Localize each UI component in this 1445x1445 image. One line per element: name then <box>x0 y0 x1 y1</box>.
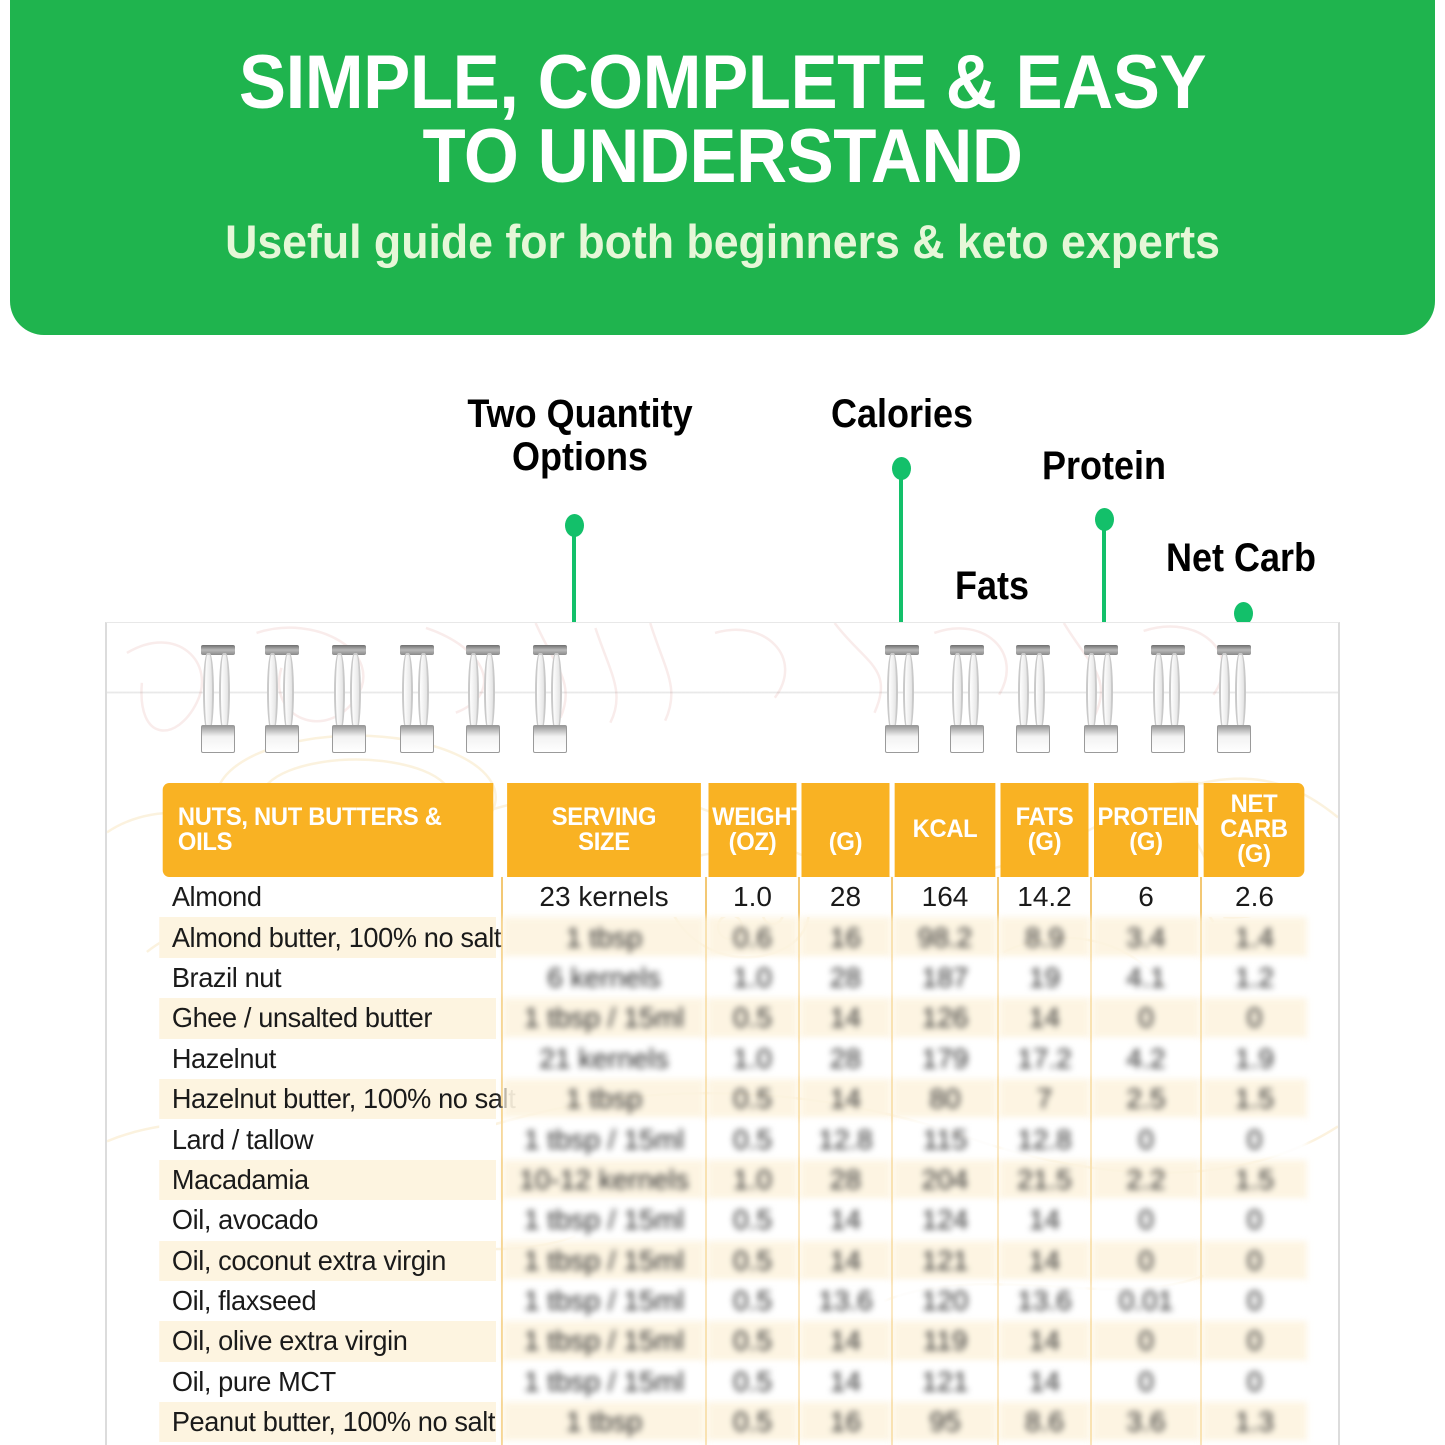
table-row[interactable]: Oil, olive extra virgin1 tbsp / 15ml0.51… <box>154 1321 1307 1361</box>
cell-weight-g: 28 <box>799 1160 892 1200</box>
callout-label-net-carb: Net Carb <box>1123 537 1359 580</box>
cell-fats: 8.6 <box>998 1402 1091 1442</box>
cell-weight-oz: 1.0 <box>706 1160 799 1200</box>
cell-weight-g: 28 <box>799 958 892 998</box>
column-header-protein[interactable]: PROTEIN (G) <box>1094 783 1199 877</box>
column-header-weight-oz[interactable]: WEIGHT (OZ) <box>708 783 796 877</box>
cell-weight-g: 13.6 <box>799 1281 892 1321</box>
hero-banner: SIMPLE, COMPLETE & EASY TO UNDERSTAND Us… <box>10 0 1435 335</box>
cell-weight-oz: 1.0 <box>706 958 799 998</box>
nutrition-table-container: NUTS, NUT BUTTERS & OILS SERVING SIZE WE… <box>154 783 1307 1445</box>
page-root: SIMPLE, COMPLETE & EASY TO UNDERSTAND Us… <box>0 0 1445 1445</box>
cell-weight-oz: 0.5 <box>706 1241 799 1281</box>
column-header-serving-main: SERVING <box>511 805 697 830</box>
cell-fats: 7 <box>998 1079 1091 1119</box>
cell-fats: 14 <box>998 1321 1091 1361</box>
cell-kcal: 121 <box>892 1362 998 1402</box>
column-header-fats-main: FATS <box>1004 805 1085 830</box>
table-header: NUTS, NUT BUTTERS & OILS SERVING SIZE WE… <box>154 783 1307 877</box>
cell-kcal: 187 <box>892 958 998 998</box>
cell-kcal: 115 <box>892 1119 998 1159</box>
cell-net-carb: 0 <box>1201 998 1307 1038</box>
column-header-kcal-text: KCAL <box>898 817 991 842</box>
cell-serving-size: 21 kernels <box>502 1039 706 1079</box>
cell-protein: 0.01 <box>1091 1281 1201 1321</box>
cell-net-carb: 1.4 <box>1201 917 1307 957</box>
cell-net-carb: 1.5 <box>1201 1160 1307 1200</box>
cell-fats: 14 <box>998 1200 1091 1240</box>
cell-food-name: Peanut butter, 100% no salt <box>159 1402 497 1442</box>
cell-protein: 0 <box>1091 1241 1201 1281</box>
column-header-fats[interactable]: FATS (G) <box>1000 783 1088 877</box>
cell-kcal: 95 <box>892 1402 998 1442</box>
cell-weight-g: 28 <box>799 877 892 917</box>
hero-title-line1: SIMPLE, COMPLETE & EASY <box>60 46 1385 120</box>
cell-weight-oz: 1.0 <box>706 1039 799 1079</box>
spiral-ring <box>1217 645 1251 753</box>
column-header-weight-g-main <box>805 805 886 830</box>
cell-protein: 3.6 <box>1091 1402 1201 1442</box>
callout-label-protein: Protein <box>996 445 1212 488</box>
table-row[interactable]: Hazelnut21 kernels1.02817917.24.21.9 <box>154 1039 1307 1079</box>
column-header-protein-unit: (G) <box>1098 830 1195 855</box>
cell-protein: 0 <box>1091 1119 1201 1159</box>
cell-food-name: Hazelnut <box>159 1039 497 1079</box>
cell-serving-size: 1 tbsp / 15ml <box>502 1362 706 1402</box>
cell-serving-size: 23 kernels <box>502 877 706 917</box>
column-header-net-carb-main: NET CARB <box>1207 792 1300 842</box>
cell-kcal: 164 <box>892 877 998 917</box>
cell-protein: 0 <box>1091 1362 1201 1402</box>
cell-serving-size: 1 tbsp / 15ml <box>502 1321 706 1361</box>
cell-weight-g: 14 <box>799 1241 892 1281</box>
column-header-food-name-text: NUTS, NUT BUTTERS & OILS <box>178 805 490 855</box>
cell-food-name: Macadamia <box>159 1160 497 1200</box>
spiral-ring <box>533 645 567 753</box>
cell-serving-size: 1 tbsp / 15ml <box>502 1281 706 1321</box>
column-header-net-carb-unit: (G) <box>1207 842 1300 867</box>
table-row[interactable]: Almond butter, 100% no salt1 tbsp0.61698… <box>154 917 1307 957</box>
cell-weight-oz: 0.5 <box>706 1281 799 1321</box>
cell-net-carb: 0 <box>1201 1321 1307 1361</box>
cell-serving-size: 1 tbsp / 15ml <box>502 1241 706 1281</box>
cell-protein: 0 <box>1091 1200 1201 1240</box>
cell-serving-size: 1 tbsp <box>502 917 706 957</box>
cell-fats: 19 <box>998 958 1091 998</box>
table-row[interactable]: Lard / tallow1 tbsp / 15ml0.512.811512.8… <box>154 1119 1307 1159</box>
cell-weight-oz: 0.5 <box>706 998 799 1038</box>
cell-protein: 6 <box>1091 877 1201 917</box>
cell-kcal: 204 <box>892 1160 998 1200</box>
cell-serving-size: 1 tbsp / 15ml <box>502 998 706 1038</box>
cell-weight-oz: 0.5 <box>706 1119 799 1159</box>
cell-weight-g: 14 <box>799 1200 892 1240</box>
column-header-weight-g[interactable]: (G) <box>801 783 889 877</box>
cell-weight-g: 14 <box>799 1079 892 1119</box>
cell-food-name: Oil, coconut extra virgin <box>159 1241 497 1281</box>
cell-serving-size: 1 tbsp <box>502 1402 706 1442</box>
column-header-weight-oz-unit: (OZ) <box>712 830 793 855</box>
cell-fats: 8.9 <box>998 917 1091 957</box>
cell-weight-g: 14 <box>799 1362 892 1402</box>
callout-label-fats: Fats <box>884 565 1100 608</box>
cell-food-name: Lard / tallow <box>159 1119 497 1159</box>
cell-kcal: 119 <box>892 1321 998 1361</box>
cell-weight-oz: 0.5 <box>706 1402 799 1442</box>
spiral-ring <box>265 645 299 753</box>
cell-fats: 13.6 <box>998 1281 1091 1321</box>
table-row[interactable]: Ghee / unsalted butter1 tbsp / 15ml0.514… <box>154 998 1307 1038</box>
column-header-weight-g-unit: (G) <box>805 830 886 855</box>
column-header-food-name[interactable]: NUTS, NUT BUTTERS & OILS <box>163 783 494 877</box>
cell-protein: 0 <box>1091 1321 1201 1361</box>
cell-serving-size: 1 tbsp <box>502 1079 706 1119</box>
cell-net-carb: 0 <box>1201 1200 1307 1240</box>
cell-fats: 14 <box>998 1241 1091 1281</box>
cell-fats: 14 <box>998 1362 1091 1402</box>
cell-food-name: Oil, pure MCT <box>159 1362 497 1402</box>
cell-net-carb: 1.3 <box>1201 1402 1307 1442</box>
cell-fats: 14 <box>998 998 1091 1038</box>
table-row[interactable]: Brazil nut6 kernels1.028187194.11.2 <box>154 958 1307 998</box>
cell-net-carb: 2.6 <box>1201 877 1307 917</box>
spiral-ring <box>466 645 500 753</box>
cell-food-name: Almond <box>159 877 497 917</box>
column-header-serving-unit: SIZE <box>511 830 697 855</box>
spiral-ring <box>1016 645 1050 753</box>
cell-fats: 21.5 <box>998 1160 1091 1200</box>
table-row[interactable]: Almond23 kernels1.02816414.262.6 <box>154 877 1307 917</box>
cell-weight-oz: 1.0 <box>706 877 799 917</box>
cell-weight-g: 16 <box>799 917 892 957</box>
cell-net-carb: 0 <box>1201 1119 1307 1159</box>
cell-protein: 4.2 <box>1091 1039 1201 1079</box>
column-header-protein-main: PROTEIN <box>1098 805 1195 830</box>
column-header-fats-unit: (G) <box>1004 830 1085 855</box>
spiral-ring <box>885 645 919 753</box>
cell-food-name: Brazil nut <box>159 958 497 998</box>
cell-weight-oz: 0.5 <box>706 1321 799 1361</box>
cell-serving-size: 6 kernels <box>502 958 706 998</box>
cell-food-name: Hazelnut butter, 100% no salt <box>159 1079 497 1119</box>
cell-serving-size: 10-12 kernels <box>502 1160 706 1200</box>
table-header-row: NUTS, NUT BUTTERS & OILS SERVING SIZE WE… <box>154 783 1307 877</box>
spiral-notebook-page: NUTS, NUT BUTTERS & OILS SERVING SIZE WE… <box>105 622 1340 1445</box>
cell-kcal: 121 <box>892 1241 998 1281</box>
table-body: Almond23 kernels1.02816414.262.6Almond b… <box>154 877 1307 1445</box>
table-row[interactable]: Oil, coconut extra virgin1 tbsp / 15ml0.… <box>154 1241 1307 1281</box>
cell-net-carb: 0 <box>1201 1362 1307 1402</box>
cell-protein: 3.4 <box>1091 917 1201 957</box>
cell-kcal: 80 <box>892 1079 998 1119</box>
cell-weight-g: 14 <box>799 998 892 1038</box>
cell-food-name: Almond butter, 100% no salt <box>159 917 497 957</box>
cell-food-name: Ghee / unsalted butter <box>159 998 497 1038</box>
cell-kcal: 98.2 <box>892 917 998 957</box>
cell-protein: 2.5 <box>1091 1079 1201 1119</box>
cell-weight-g: 16 <box>799 1402 892 1442</box>
spiral-ring <box>950 645 984 753</box>
cell-weight-oz: 0.5 <box>706 1079 799 1119</box>
cell-net-carb: 1.2 <box>1201 958 1307 998</box>
column-header-net-carb[interactable]: NET CARB (G) <box>1204 783 1305 877</box>
cell-protein: 2.2 <box>1091 1160 1201 1200</box>
cell-net-carb: 1.9 <box>1201 1039 1307 1079</box>
cell-protein: 0 <box>1091 998 1201 1038</box>
spiral-ring <box>332 645 366 753</box>
cell-net-carb: 0 <box>1201 1241 1307 1281</box>
cell-weight-oz: 0.5 <box>706 1362 799 1402</box>
cell-protein: 4.1 <box>1091 958 1201 998</box>
cell-weight-g: 14 <box>799 1321 892 1361</box>
spiral-ring <box>201 645 235 753</box>
hero-subtitle: Useful guide for both beginners & keto e… <box>46 217 1400 266</box>
cell-weight-oz: 0.5 <box>706 1200 799 1240</box>
table-row[interactable]: Macadamia10-12 kernels1.02820421.52.21.5 <box>154 1160 1307 1200</box>
spiral-binding-rings <box>107 623 1338 763</box>
spiral-ring <box>1084 645 1118 753</box>
cell-serving-size: 1 tbsp / 15ml <box>502 1200 706 1240</box>
table-row[interactable]: Peanut butter, 100% no salt1 tbsp0.51695… <box>154 1402 1307 1442</box>
cell-kcal: 124 <box>892 1200 998 1240</box>
cell-net-carb: 0 <box>1201 1281 1307 1321</box>
cell-fats: 14.2 <box>998 877 1091 917</box>
column-header-kcal[interactable]: KCAL <box>895 783 996 877</box>
callout-label-calories: Calories <box>785 393 1019 436</box>
cell-kcal: 120 <box>892 1281 998 1321</box>
cell-fats: 12.8 <box>998 1119 1091 1159</box>
cell-weight-g: 28 <box>799 1039 892 1079</box>
column-header-serving-size[interactable]: SERVING SIZE <box>507 783 701 877</box>
cell-weight-oz: 0.6 <box>706 917 799 957</box>
cell-weight-g: 12.8 <box>799 1119 892 1159</box>
cell-food-name: Oil, flaxseed <box>159 1281 497 1321</box>
cell-net-carb: 1.5 <box>1201 1079 1307 1119</box>
cell-fats: 17.2 <box>998 1039 1091 1079</box>
hero-title-line2: TO UNDERSTAND <box>60 120 1385 194</box>
nutrition-table: NUTS, NUT BUTTERS & OILS SERVING SIZE WE… <box>154 783 1307 1445</box>
spiral-ring <box>1151 645 1185 753</box>
table-row[interactable]: Oil, pure MCT1 tbsp / 15ml0.5141211400 <box>154 1362 1307 1402</box>
column-header-weight-main: WEIGHT <box>712 805 793 830</box>
cell-serving-size: 1 tbsp / 15ml <box>502 1119 706 1159</box>
table-row[interactable]: Oil, avocado1 tbsp / 15ml0.5141241400 <box>154 1200 1307 1240</box>
table-row[interactable]: Hazelnut butter, 100% no salt1 tbsp0.514… <box>154 1079 1307 1119</box>
cell-food-name: Oil, olive extra virgin <box>159 1321 497 1361</box>
table-row[interactable]: Oil, flaxseed1 tbsp / 15ml0.513.612013.6… <box>154 1281 1307 1321</box>
cell-kcal: 126 <box>892 998 998 1038</box>
cell-kcal: 179 <box>892 1039 998 1079</box>
cell-food-name: Oil, avocado <box>159 1200 497 1240</box>
spiral-ring <box>400 645 434 753</box>
callout-label-two-quantity-options: Two Quantity Options <box>445 393 715 479</box>
